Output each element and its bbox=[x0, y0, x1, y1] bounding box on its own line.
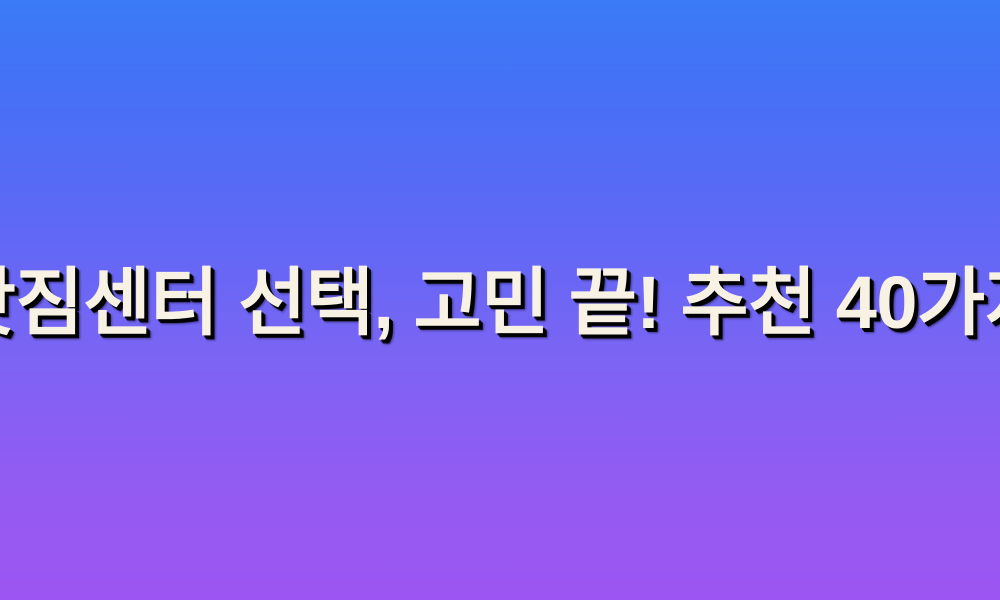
headline-band: 이삿짐센터 선택, 고민 끝! 추천 40가지로 bbox=[0, 0, 1000, 600]
banner-canvas: 이삿짐센터 선택, 고민 끝! 추천 40가지로 bbox=[0, 0, 1000, 600]
headline-title: 이삿짐센터 선택, 고민 끝! 추천 40가지로 bbox=[0, 266, 1000, 340]
